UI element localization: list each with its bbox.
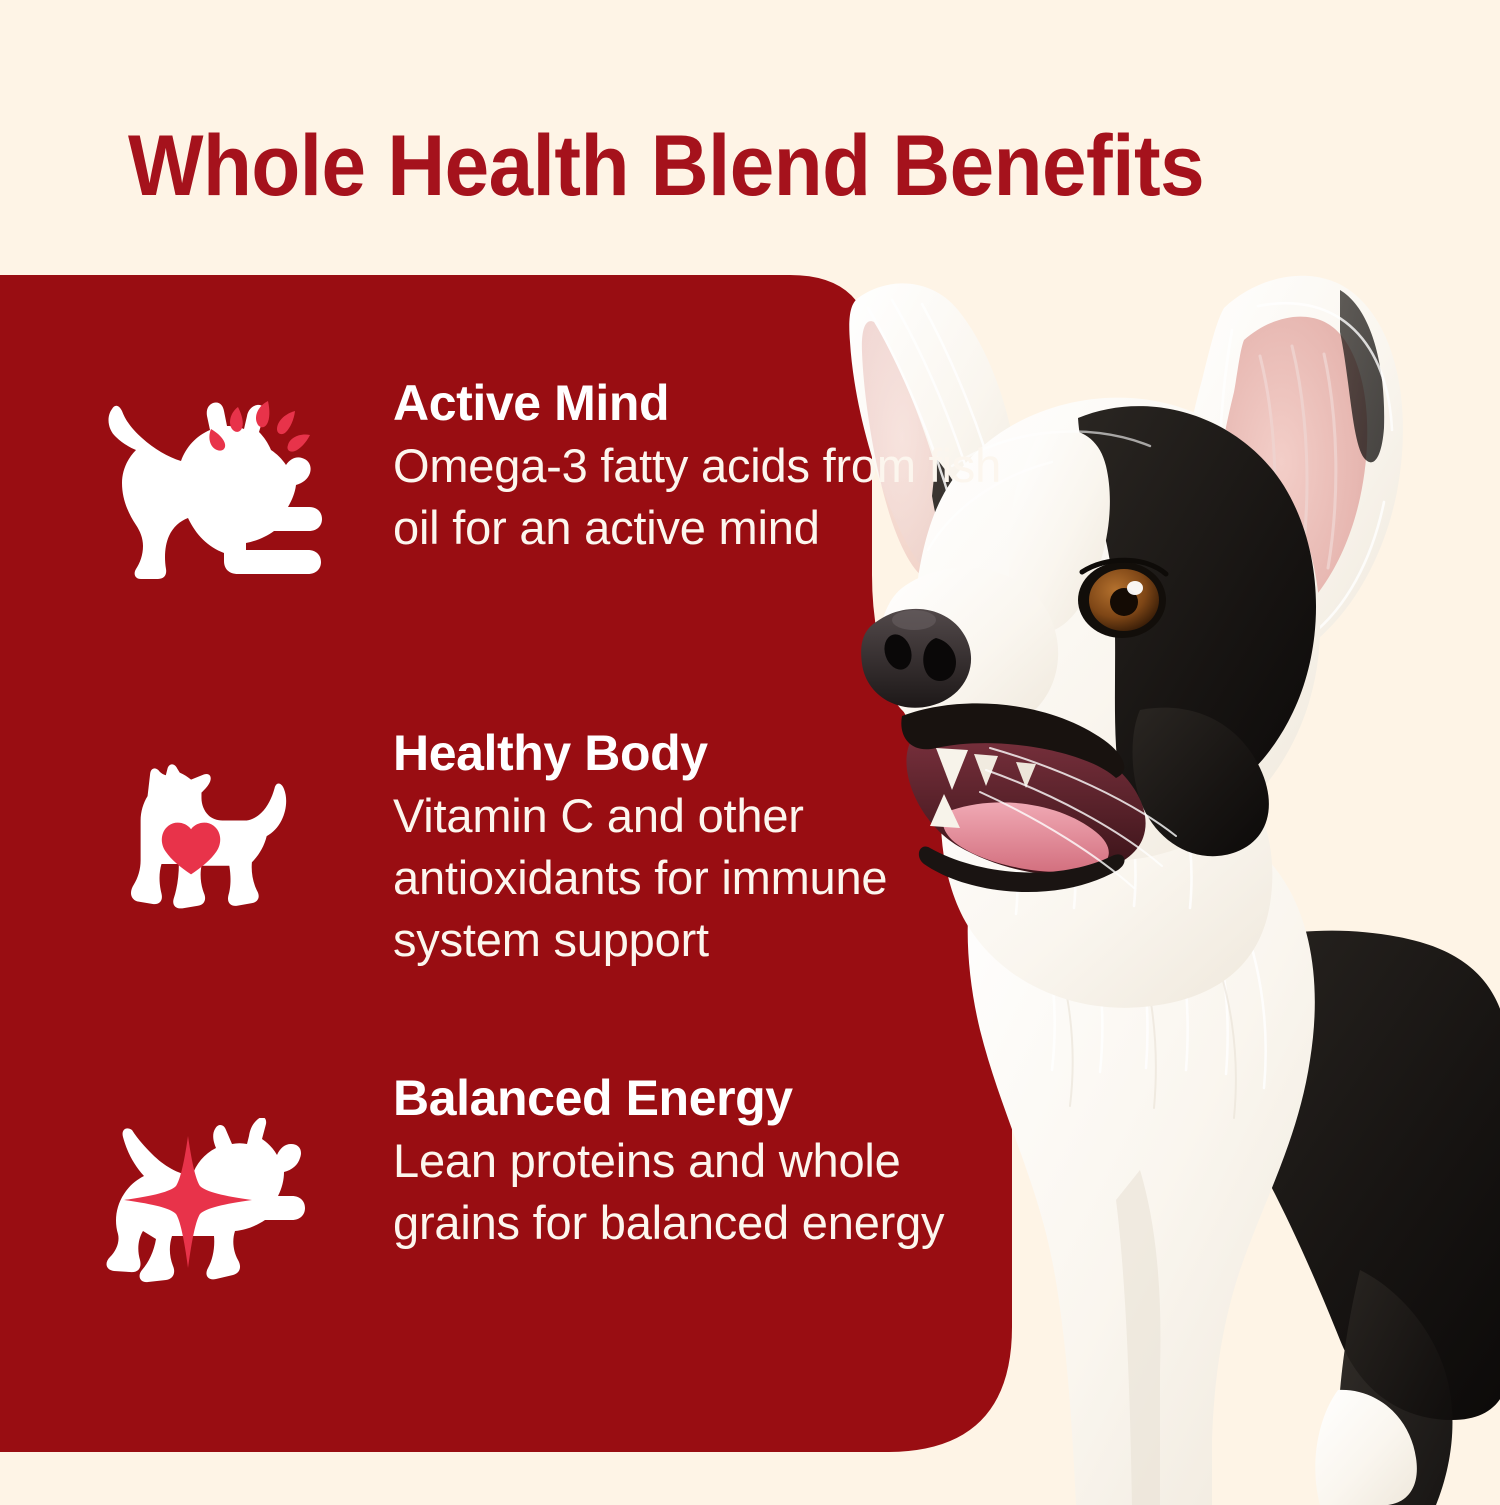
benefit-description: Omega-3 fatty acids from fish oil for an…: [393, 435, 1033, 559]
benefit-text-block: Balanced Energy Lean proteins and whole …: [393, 1070, 1033, 1254]
benefit-description: Lean proteins and whole grains for balan…: [393, 1130, 1033, 1254]
benefit-description: Vitamin C and other antioxidants for imm…: [393, 785, 1033, 971]
benefit-heading: Healthy Body: [393, 725, 1033, 782]
benefit-text-block: Healthy Body Vitamin C and other antioxi…: [393, 725, 1033, 971]
benefit-text-block: Active Mind Omega-3 fatty acids from fis…: [393, 375, 1033, 559]
benefit-heading: Balanced Energy: [393, 1070, 1033, 1127]
dog-play-bow-sparkle-icon: [96, 397, 326, 587]
benefit-heading: Active Mind: [393, 375, 1033, 432]
page-title: Whole Health Blend Benefits: [128, 118, 1151, 214]
dog-standing-heart-icon: [118, 743, 318, 938]
infographic-canvas: Active Mind Omega-3 fatty acids from fis…: [0, 0, 1500, 1500]
dog-trotting-star-icon: [96, 1118, 326, 1303]
